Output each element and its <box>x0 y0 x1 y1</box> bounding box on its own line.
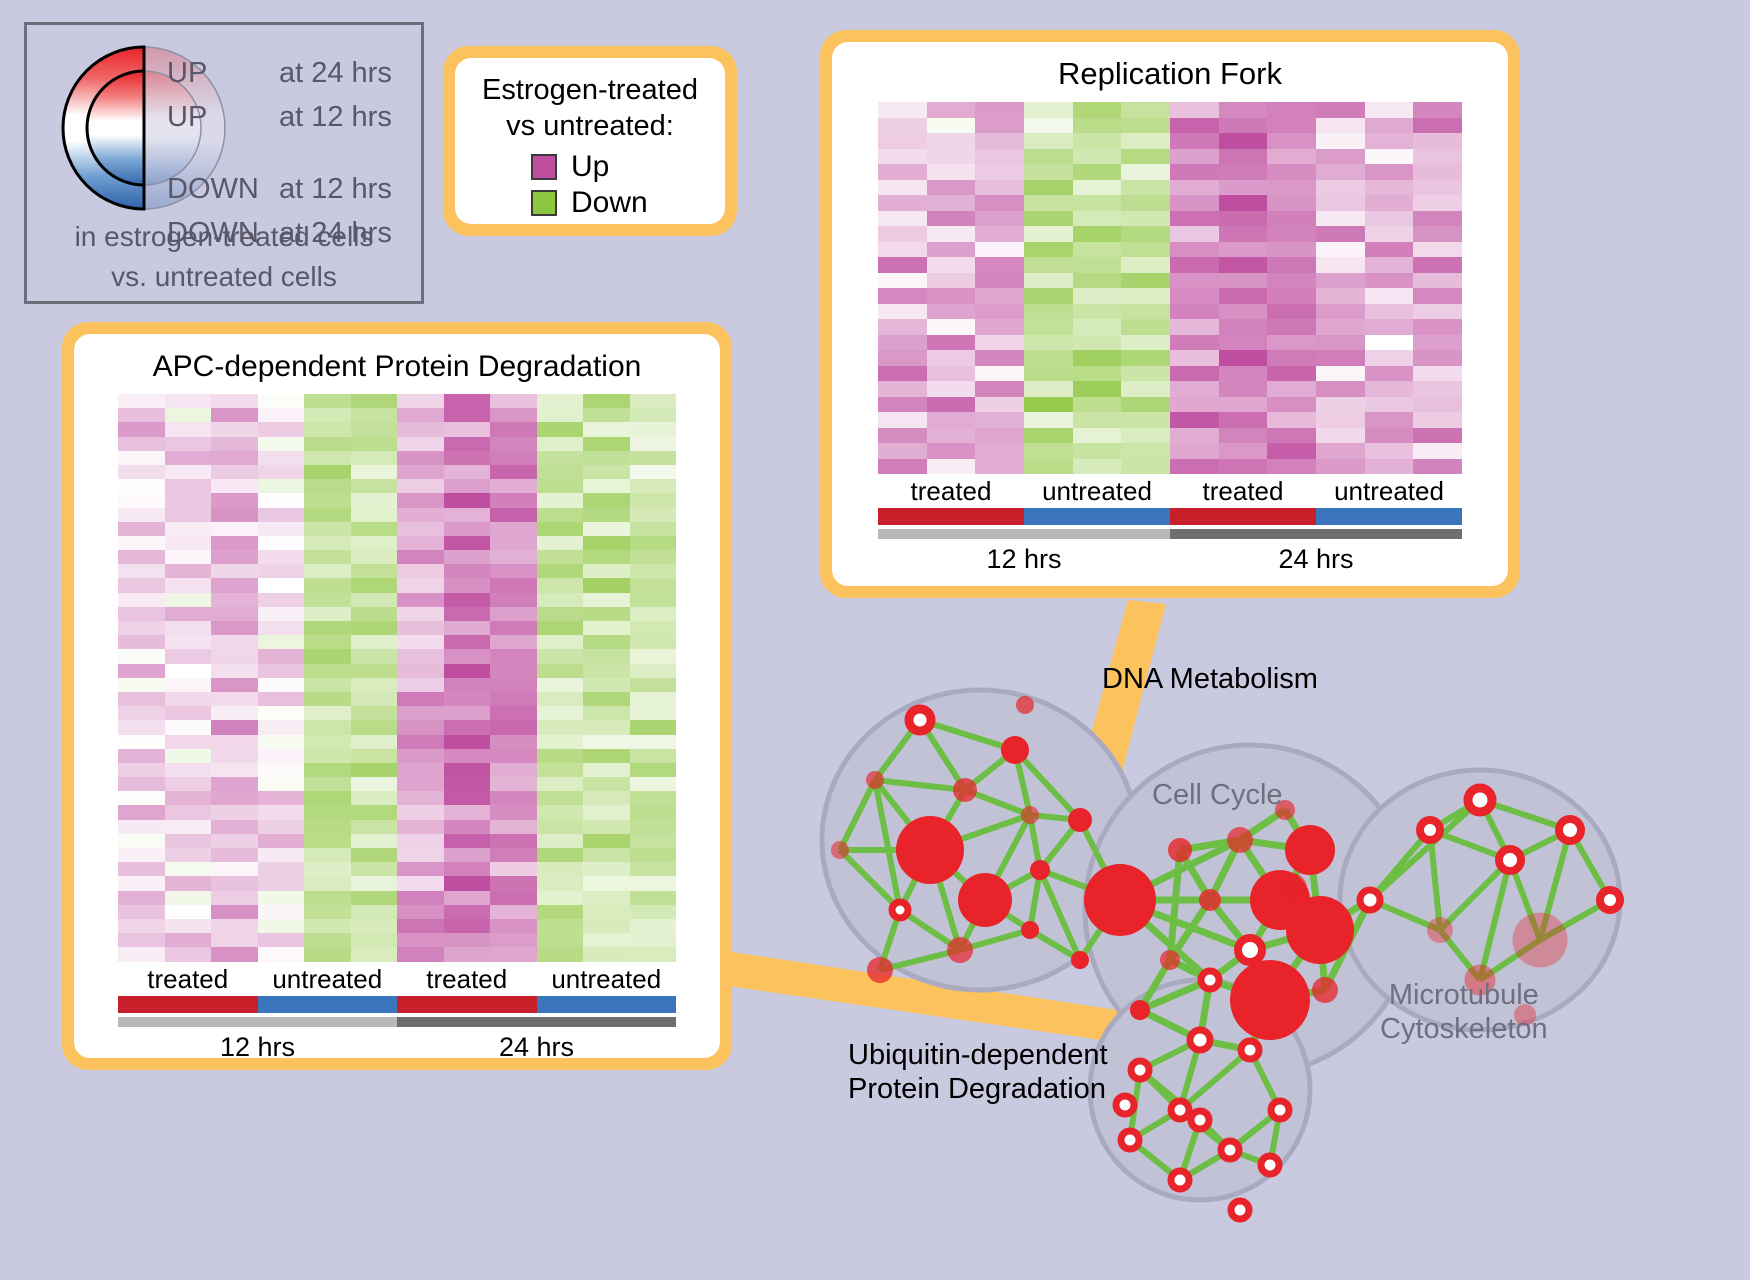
heatmap-cell <box>444 905 491 919</box>
heatmap-cell <box>927 211 976 227</box>
heatmap-cell <box>630 479 677 493</box>
heatmap-cell <box>1121 443 1170 459</box>
heatmap-cell <box>878 118 927 134</box>
heatmap-cell <box>1365 180 1414 196</box>
heatmap-cell <box>165 422 212 436</box>
heatmap-cell <box>1267 397 1316 413</box>
heatmap-row <box>878 459 1462 475</box>
network-node <box>1121 1131 1139 1149</box>
key-term: UP <box>167 95 279 139</box>
heatmap-cell <box>444 933 491 947</box>
heatmap-cell <box>1024 257 1073 273</box>
heatmap-cell <box>1170 195 1219 211</box>
heatmap-cell <box>351 522 398 536</box>
group-bar-treated-24 <box>397 996 537 1013</box>
heatmap-cell <box>1121 459 1170 475</box>
heatmap-cell <box>165 905 212 919</box>
key-row-down-12: DOWN at 12 hrs <box>167 167 417 211</box>
key-spacer <box>167 139 417 167</box>
heatmap-cell <box>1121 428 1170 444</box>
heatmap-cell <box>397 422 444 436</box>
heatmap-cell <box>490 508 537 522</box>
heatmap-cell <box>165 394 212 408</box>
heatmap-cell <box>1365 319 1414 335</box>
heatmap-cell <box>1073 412 1122 428</box>
heatmap-cell <box>1316 164 1365 180</box>
heatmap-row <box>878 211 1462 227</box>
heatmap-cell <box>1316 350 1365 366</box>
heatmap-cell <box>537 408 584 422</box>
heatmap-cell <box>165 536 212 550</box>
heatmap-cell <box>1121 226 1170 242</box>
heatmap-cell <box>444 493 491 507</box>
heatmap-cell <box>444 408 491 422</box>
heatmap-cell <box>211 493 258 507</box>
heatmap-row <box>118 550 676 564</box>
heatmap-cell <box>1316 242 1365 258</box>
heatmap-cell <box>397 394 444 408</box>
caption-line-1: in estrogen-treated cells <box>27 217 421 257</box>
heatmap-cell <box>1170 242 1219 258</box>
heatmap-cell <box>490 678 537 692</box>
heatmap-cell <box>397 919 444 933</box>
heatmap-cell <box>1413 412 1462 428</box>
heatmap-cell <box>397 607 444 621</box>
heatmap-row <box>878 397 1462 413</box>
heatmap-cell <box>351 763 398 777</box>
heatmap-cell <box>1413 164 1462 180</box>
heatmap-cell <box>1024 304 1073 320</box>
heatmap-cell <box>118 550 165 564</box>
heatmap-cell <box>1267 102 1316 118</box>
heatmap-cell <box>118 947 165 961</box>
network-node <box>1068 808 1092 832</box>
heatmap-cell <box>211 564 258 578</box>
heatmap-cell <box>444 876 491 890</box>
heatmap-cell <box>1219 366 1268 382</box>
heatmap-cell <box>118 422 165 436</box>
heatmap-cell <box>165 763 212 777</box>
heatmap-row <box>118 777 676 791</box>
heatmap-cell <box>444 451 491 465</box>
heatmap-cell <box>258 820 305 834</box>
heatmap-cell <box>304 820 351 834</box>
heatmap-cell <box>1316 304 1365 320</box>
heatmap-cell <box>258 876 305 890</box>
heatmap-cell <box>583 649 630 663</box>
heatmap-cell <box>211 578 258 592</box>
heatmap-cell <box>490 720 537 734</box>
heatmap-cell <box>1267 211 1316 227</box>
heatmap-cell <box>537 422 584 436</box>
heatmap-cell <box>165 649 212 663</box>
heatmap-cell <box>397 791 444 805</box>
heatmap-row <box>878 195 1462 211</box>
heatmap-cell <box>927 102 976 118</box>
group-bar-treated-12 <box>118 996 258 1013</box>
heatmap-cell <box>165 493 212 507</box>
heatmap-cell <box>583 933 630 947</box>
heatmap-cell <box>1170 366 1219 382</box>
heatmap-cell <box>211 763 258 777</box>
heatmap-cell <box>1316 335 1365 351</box>
network-node <box>1427 917 1453 943</box>
heatmap-cell <box>1267 257 1316 273</box>
heatmap-cell <box>1316 118 1365 134</box>
heatmap-cell <box>490 848 537 862</box>
heatmap-cell <box>975 304 1024 320</box>
network-node <box>1084 864 1156 936</box>
heatmap-cell <box>397 763 444 777</box>
heatmap-cell <box>444 465 491 479</box>
heatmap-cell <box>1170 288 1219 304</box>
heatmap-cell <box>490 905 537 919</box>
replication-fork-axis: treated untreated treated untreated 12 h <box>878 474 1462 579</box>
heatmap-cell <box>444 437 491 451</box>
heatmap-cell <box>1121 288 1170 304</box>
group-bar-untreated-24 <box>537 996 677 1013</box>
heatmap-row <box>118 437 676 451</box>
heatmap-cell <box>975 319 1024 335</box>
heatmap-cell <box>537 621 584 635</box>
heatmap-cell <box>1316 366 1365 382</box>
heatmap-cell <box>304 735 351 749</box>
heatmap-cell <box>304 550 351 564</box>
heatmap-cell <box>583 848 630 862</box>
heatmap-cell <box>211 919 258 933</box>
key-time: at 12 hrs <box>279 95 392 139</box>
heatmap-cell <box>583 479 630 493</box>
heatmap-cell <box>1024 428 1073 444</box>
heatmap-cell <box>165 749 212 763</box>
heatmap-cell <box>211 891 258 905</box>
heatmap-cell <box>1365 412 1414 428</box>
heatmap-cell <box>211 805 258 819</box>
heatmap-row <box>878 102 1462 118</box>
heatmap-row <box>118 451 676 465</box>
heatmap-cell <box>351 933 398 947</box>
network-node <box>1238 938 1262 962</box>
heatmap-cell <box>258 777 305 791</box>
heatmap-cell <box>165 479 212 493</box>
heatmap-cell <box>1413 304 1462 320</box>
heatmap-cell <box>490 791 537 805</box>
heatmap-cell <box>537 536 584 550</box>
heatmap-cell <box>258 735 305 749</box>
heatmap-cell <box>1413 335 1462 351</box>
heatmap-cell <box>1267 366 1316 382</box>
heatmap-cell <box>583 735 630 749</box>
heatmap-row <box>878 381 1462 397</box>
heatmap-cell <box>1170 273 1219 289</box>
heatmap-cell <box>1024 273 1073 289</box>
heatmap-cell <box>118 735 165 749</box>
heatmap-cell <box>1219 428 1268 444</box>
heatmap-cell <box>397 820 444 834</box>
heatmap-cell <box>304 678 351 692</box>
heatmap-cell <box>1024 149 1073 165</box>
heatmap-cell <box>258 664 305 678</box>
heatmap-cell <box>118 749 165 763</box>
heatmap-cell <box>118 876 165 890</box>
heatmap-cell <box>537 394 584 408</box>
time-color-bar <box>878 529 1462 539</box>
key-time: at 12 hrs <box>279 167 392 211</box>
heatmap-cell <box>211 933 258 947</box>
heatmap-cell <box>878 242 927 258</box>
network-node <box>1277 873 1307 903</box>
heatmap-cell <box>1121 133 1170 149</box>
heatmap-cell <box>304 891 351 905</box>
heatmap-cell <box>1316 288 1365 304</box>
heatmap-cell <box>1121 242 1170 258</box>
heatmap-cell <box>490 763 537 777</box>
heatmap-cell <box>304 408 351 422</box>
heatmap-cell <box>630 578 677 592</box>
heatmap-cell <box>258 649 305 663</box>
heatmap-cell <box>258 947 305 961</box>
heatmap-cell <box>1024 319 1073 335</box>
heatmap-cell <box>304 621 351 635</box>
heatmap-cell <box>1073 211 1122 227</box>
heatmap-cell <box>351 578 398 592</box>
heatmap-cell <box>1219 381 1268 397</box>
heatmap-cell <box>537 720 584 734</box>
heatmap-cell <box>975 335 1024 351</box>
heatmap-cell <box>1170 319 1219 335</box>
heatmap-cell <box>397 947 444 961</box>
heatmap-cell <box>258 479 305 493</box>
heatmap-cell <box>975 428 1024 444</box>
heatmap-cell <box>118 451 165 465</box>
heatmap-cell <box>351 621 398 635</box>
network-node <box>1191 1111 1209 1129</box>
heatmap-cell <box>927 164 976 180</box>
heatmap-cell <box>630 607 677 621</box>
updown-item-down: Down <box>531 186 725 220</box>
network-node <box>1420 820 1440 840</box>
heatmap-cell <box>630 621 677 635</box>
heatmap-cell <box>490 493 537 507</box>
updown-legend-inner: Estrogen-treated vs untreated: Up Down <box>455 58 725 224</box>
network-node <box>1261 1156 1279 1174</box>
heatmap-cell <box>1413 350 1462 366</box>
heatmap-cell <box>1316 428 1365 444</box>
heatmap-cell <box>118 805 165 819</box>
heatmap-cell <box>878 288 927 304</box>
heatmap-cell <box>975 397 1024 413</box>
heatmap-cell <box>583 408 630 422</box>
heatmap-cell <box>537 692 584 706</box>
heatmap-cell <box>1121 412 1170 428</box>
heatmap-cell <box>583 834 630 848</box>
group-bar-treated-12 <box>878 508 1024 525</box>
heatmap-row <box>118 635 676 649</box>
heatmap-cell <box>397 578 444 592</box>
heatmap-cell <box>304 876 351 890</box>
network-node <box>953 778 977 802</box>
heatmap-cell <box>211 394 258 408</box>
heatmap-cell <box>304 805 351 819</box>
heatmap-cell <box>1365 118 1414 134</box>
network-node <box>1271 1101 1289 1119</box>
heatmap-cell <box>1413 180 1462 196</box>
heatmap-row <box>878 350 1462 366</box>
heatmap-cell <box>211 791 258 805</box>
heatmap-cell <box>118 408 165 422</box>
time-label-24hrs: 24 hrs <box>397 1027 676 1067</box>
heatmap-cell <box>1073 118 1122 134</box>
heatmap-cell <box>878 397 927 413</box>
heatmap-cell <box>351 451 398 465</box>
heatmap-cell <box>444 947 491 961</box>
heatmap-cell <box>583 805 630 819</box>
heatmap-cell <box>878 319 927 335</box>
heatmap-cell <box>258 437 305 451</box>
heatmap-cell <box>1413 102 1462 118</box>
heatmap-cell <box>397 720 444 734</box>
heatmap-cell <box>1267 304 1316 320</box>
heatmap-cell <box>878 443 927 459</box>
heatmap-cell <box>444 607 491 621</box>
network-node <box>947 937 973 963</box>
heatmap-cell <box>258 621 305 635</box>
heatmap-cell <box>165 664 212 678</box>
heatmap-cell <box>258 508 305 522</box>
heatmap-cell <box>927 273 976 289</box>
updown-title-line-1: Estrogen-treated <box>455 72 725 108</box>
heatmap-cell <box>878 102 927 118</box>
heatmap-cell <box>630 678 677 692</box>
heatmap-cell <box>975 257 1024 273</box>
heatmap-cell <box>1024 350 1073 366</box>
heatmap-cell <box>1267 226 1316 242</box>
heatmap-cell <box>397 493 444 507</box>
heatmap-cell <box>351 493 398 507</box>
heatmap-cell <box>583 635 630 649</box>
network-node <box>1600 890 1620 910</box>
heatmap-cell <box>1365 335 1414 351</box>
heatmap-cell <box>165 720 212 734</box>
heatmap-cell <box>397 706 444 720</box>
heatmap-cell <box>351 593 398 607</box>
time-bar-24hrs <box>397 1017 676 1027</box>
heatmap-cell <box>583 564 630 578</box>
heatmap-cell <box>304 692 351 706</box>
heatmap-cell <box>583 394 630 408</box>
heatmap-cell <box>211 706 258 720</box>
heatmap-cell <box>1121 149 1170 165</box>
heatmap-cell <box>351 919 398 933</box>
heatmap-cell <box>490 550 537 564</box>
network-node <box>1241 1041 1259 1059</box>
heatmap-cell <box>927 428 976 444</box>
heatmap-cell <box>583 550 630 564</box>
heatmap-cell <box>1413 288 1462 304</box>
heatmap-cell <box>927 242 976 258</box>
heatmap-cell <box>630 820 677 834</box>
heatmap-cell <box>1121 304 1170 320</box>
heatmap-cell <box>118 678 165 692</box>
heatmap-cell <box>118 621 165 635</box>
heatmap-row <box>878 149 1462 165</box>
heatmap-row <box>118 763 676 777</box>
heatmap-row <box>118 422 676 436</box>
heatmap-cell <box>1024 180 1073 196</box>
heatmap-row <box>118 749 676 763</box>
heatmap-cell <box>211 607 258 621</box>
replication-fork-inner: Replication Fork treated untreated treat… <box>832 42 1508 586</box>
heatmap-cell <box>165 919 212 933</box>
heatmap-cell <box>975 412 1024 428</box>
heatmap-cell <box>1024 335 1073 351</box>
heatmap-cell <box>1219 412 1268 428</box>
heatmap-cell <box>490 635 537 649</box>
heatmap-cell <box>878 428 927 444</box>
heatmap-cell <box>1024 226 1073 242</box>
heatmap-cell <box>1267 381 1316 397</box>
heatmap-cell <box>304 635 351 649</box>
heatmap-cell <box>1267 428 1316 444</box>
heatmap-cell <box>1170 397 1219 413</box>
heatmap-cell <box>927 443 976 459</box>
heatmap-cell <box>444 479 491 493</box>
heatmap-cell <box>975 459 1024 475</box>
heatmap-cell <box>211 678 258 692</box>
heatmap-cell <box>211 621 258 635</box>
heatmap-cell <box>1267 242 1316 258</box>
heatmap-cell <box>878 335 927 351</box>
heatmap-cell <box>397 664 444 678</box>
heatmap-cell <box>1267 412 1316 428</box>
heatmap-cell <box>444 692 491 706</box>
heatmap-cell <box>304 749 351 763</box>
heatmap-cell <box>1073 350 1122 366</box>
heatmap-cell <box>1219 257 1268 273</box>
heatmap-cell <box>630 635 677 649</box>
heatmap-cell <box>537 607 584 621</box>
heatmap-cell <box>1413 366 1462 382</box>
heatmap-cell <box>1170 350 1219 366</box>
heatmap-cell <box>1073 102 1122 118</box>
heatmap-cell <box>630 905 677 919</box>
heatmap-cell <box>397 891 444 905</box>
heatmap-cell <box>583 451 630 465</box>
heatmap-cell <box>490 805 537 819</box>
key-row-up-24: UP at 24 hrs <box>167 51 417 95</box>
heatmap-cell <box>165 834 212 848</box>
heatmap-cell <box>583 422 630 436</box>
heatmap-cell <box>444 777 491 791</box>
heatmap-cell <box>490 891 537 905</box>
heatmap-cell <box>397 735 444 749</box>
heatmap-cell <box>490 735 537 749</box>
heatmap-cell <box>1121 335 1170 351</box>
heatmap-cell <box>537 891 584 905</box>
heatmap-cell <box>1365 288 1414 304</box>
heatmap-cell <box>1219 211 1268 227</box>
network-node <box>1030 860 1050 880</box>
heatmap-cell <box>537 919 584 933</box>
heatmap-cell <box>1170 164 1219 180</box>
heatmap-cell <box>1413 242 1462 258</box>
heatmap-cell <box>351 706 398 720</box>
heatmap-cell <box>1219 102 1268 118</box>
heatmap-cell <box>1413 397 1462 413</box>
heatmap-cell <box>258 862 305 876</box>
heatmap-cell <box>583 791 630 805</box>
heatmap-cell <box>490 649 537 663</box>
